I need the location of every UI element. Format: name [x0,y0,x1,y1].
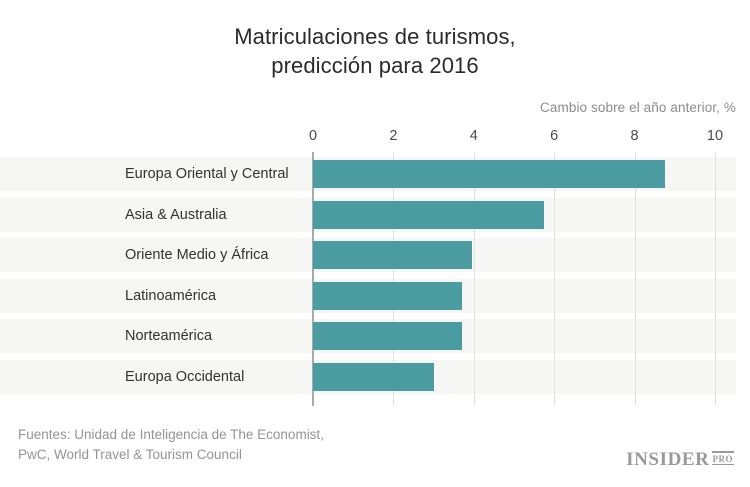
bar [313,363,434,391]
bar [313,282,462,310]
x-tick-label-4: 4 [470,128,478,144]
x-axis-tick-labels: 0246810 [0,128,750,150]
x-tick-label-6: 6 [550,128,558,144]
page-title: Matriculaciones de turismos, predicción … [0,22,750,80]
x-tick-label-0: 0 [309,128,317,144]
source-note: Fuentes: Unidad de Inteligencia de The E… [18,425,324,465]
bar [313,241,472,269]
x-tick-label-10: 10 [707,128,723,144]
chart-plot-area: 0246810 Europa Oriental y CentralAsia & … [0,128,750,410]
x-tick-label-2: 2 [389,128,397,144]
brand-wordmark: INSIDER [626,450,709,469]
x-axis-unit-caption: Cambio sobre el año anterior, % [0,100,736,115]
bar [313,322,462,350]
bar-series [0,157,750,401]
insider-pro-logo: INSIDER PRO [626,450,734,469]
source-note-line-2: PwC, World Travel & Tourism Council [18,445,324,465]
bar [313,201,544,229]
brand-pro-badge: PRO [712,451,735,465]
x-tick-label-8: 8 [631,128,639,144]
page-title-line-2: predicción para 2016 [0,51,750,80]
source-note-line-1: Fuentes: Unidad de Inteligencia de The E… [18,425,324,445]
page-title-line-1: Matriculaciones de turismos, [0,22,750,51]
bar [313,160,665,188]
